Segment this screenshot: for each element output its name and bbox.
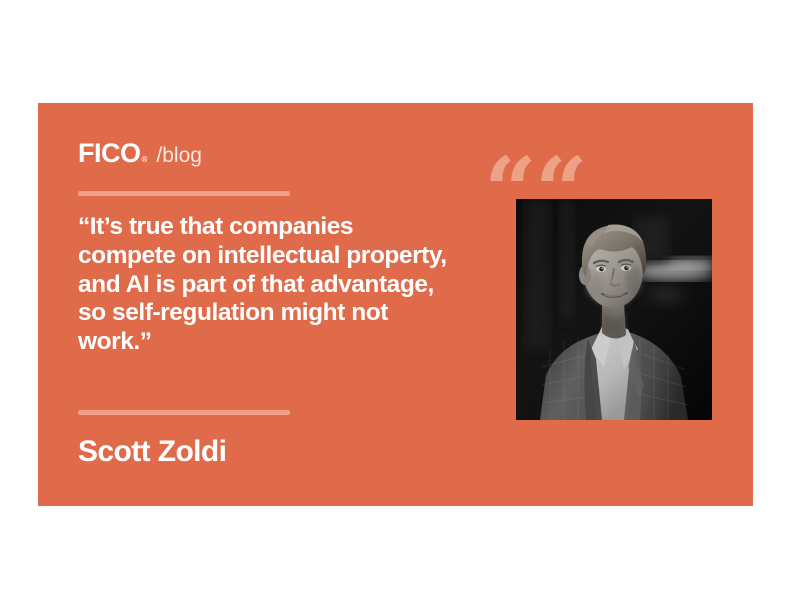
registered-trademark-icon: ® xyxy=(142,156,148,164)
quote-card: FICO ® /blog ““ “It’s true that companie… xyxy=(38,103,753,506)
divider-top xyxy=(78,191,290,196)
slide-canvas: FICO ® /blog ““ “It’s true that companie… xyxy=(0,0,792,612)
portrait-illustration xyxy=(516,199,712,420)
author-name: Scott Zoldi xyxy=(78,435,226,468)
brand-lockup[interactable]: FICO ® /blog xyxy=(78,140,202,167)
fico-wordmark: FICO xyxy=(78,140,141,167)
blog-label: /blog xyxy=(156,145,202,166)
author-portrait xyxy=(516,199,712,420)
divider-bottom xyxy=(78,410,290,415)
quote-text: “It’s true that companies compete on int… xyxy=(78,213,530,357)
